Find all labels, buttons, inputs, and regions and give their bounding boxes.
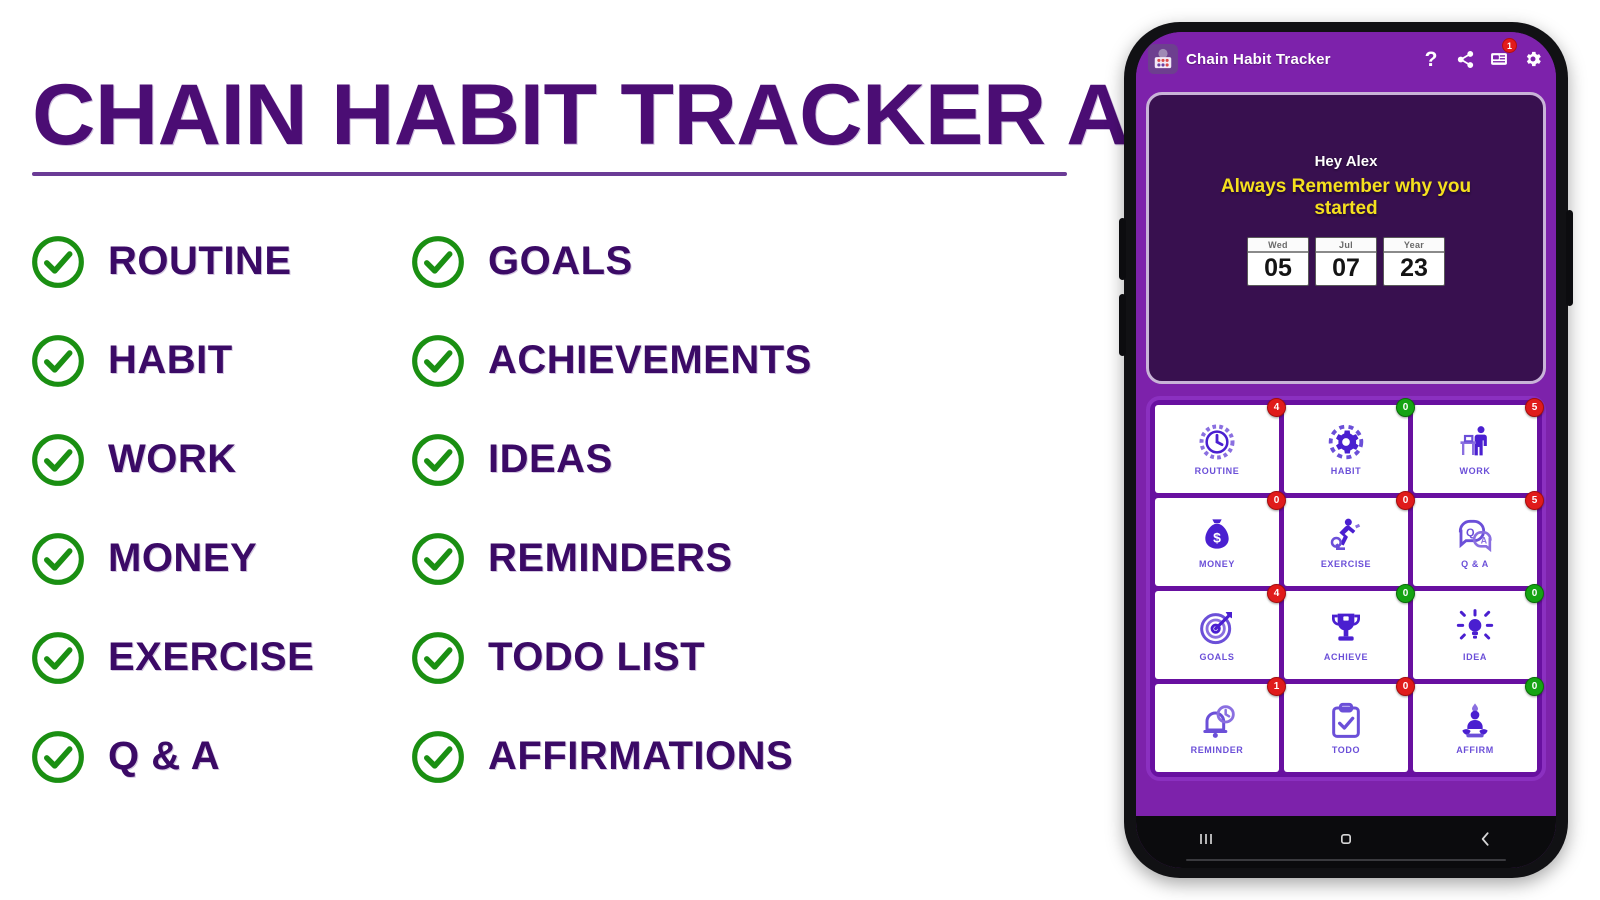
target-goals-icon — [1197, 608, 1237, 648]
feature-label: IDEAS — [488, 437, 613, 482]
feature-label: GOALS — [488, 239, 633, 284]
svg-text:A: A — [1481, 535, 1488, 545]
grid-tile-label: ROUTINE — [1195, 466, 1240, 476]
grid-tile-badge: 0 — [1525, 677, 1544, 696]
date-box: Jul07 — [1315, 237, 1377, 286]
grid-tile-badge: 1 — [1267, 677, 1286, 696]
grid-tile-badge: 0 — [1396, 677, 1415, 696]
left-panel: CHAIN HABIT TRACKER APP ROUTINEGOALSHABI… — [0, 0, 1110, 900]
feature-label: Q & A — [108, 734, 220, 779]
help-icon[interactable]: ? — [1418, 46, 1444, 72]
share-icon[interactable] — [1452, 46, 1478, 72]
check-circle-icon — [30, 432, 86, 488]
grid-tile-work[interactable]: WORK5 — [1413, 405, 1537, 493]
grid-tile-badge: 4 — [1267, 584, 1286, 603]
feature-item-goals: GOALS — [410, 212, 1090, 311]
grid-tile-label: MONEY — [1199, 559, 1235, 569]
check-circle-icon — [30, 630, 86, 686]
clipboard-todo-icon — [1326, 701, 1366, 741]
grid-tile-label: Q & A — [1461, 559, 1489, 569]
title-underline — [32, 172, 1067, 176]
app-bar: Chain Habit Tracker ? — [1136, 32, 1556, 86]
check-circle-icon — [30, 531, 86, 587]
desk-work-icon — [1455, 422, 1495, 462]
grid-tile-label: GOALS — [1199, 652, 1234, 662]
date-label: Year — [1384, 238, 1444, 253]
grid-tile-achieve[interactable]: ACHIEVE0 — [1284, 591, 1408, 679]
date-value: 23 — [1384, 253, 1444, 285]
feature-label: WORK — [108, 437, 237, 482]
feature-grid: ROUTINE4HABIT0WORK5$MONEY0EXERCISE0QAQ &… — [1155, 405, 1537, 772]
grid-tile-todo[interactable]: TODO0 — [1284, 684, 1408, 772]
check-circle-icon — [410, 630, 466, 686]
power-button[interactable] — [1566, 210, 1573, 306]
volume-down-button[interactable] — [1119, 294, 1126, 356]
grid-tile-habit[interactable]: HABIT0 — [1284, 405, 1408, 493]
question-chat-icon: QA — [1455, 515, 1495, 555]
grid-tile-money[interactable]: $MONEY0 — [1155, 498, 1279, 586]
feature-item-work: WORK — [30, 410, 410, 509]
money-bag-icon: $ — [1197, 515, 1237, 555]
feature-list: ROUTINEGOALSHABITACHIEVEMENTSWORKIDEASMO… — [30, 212, 1090, 806]
feature-item-q-a: Q & A — [30, 707, 410, 806]
grid-tile-reminder[interactable]: REMINDER1 — [1155, 684, 1279, 772]
help-glyph: ? — [1425, 49, 1438, 70]
bell-reminder-icon — [1197, 701, 1237, 741]
feature-label: HABIT — [108, 338, 233, 383]
grid-tile-badge: 0 — [1396, 398, 1415, 417]
grid-tile-label: AFFIRM — [1456, 745, 1494, 755]
feature-label: ROUTINE — [108, 239, 292, 284]
grid-tile-label: WORK — [1460, 466, 1491, 476]
grid-tile-affirm[interactable]: AFFIRM0 — [1413, 684, 1537, 772]
home-icon[interactable] — [1321, 825, 1371, 853]
feature-label: EXERCISE — [108, 635, 314, 680]
check-circle-icon — [410, 333, 466, 389]
title-block: CHAIN HABIT TRACKER APP — [32, 72, 1072, 176]
news-badge: 1 — [1502, 38, 1517, 53]
date-box: Wed05 — [1247, 237, 1309, 286]
feature-item-affirmations: AFFIRMATIONS — [410, 707, 1090, 806]
grid-tile-label: TODO — [1332, 745, 1360, 755]
settings-icon[interactable] — [1520, 46, 1546, 72]
phone-mockup: Chain Habit Tracker ? — [1124, 22, 1568, 878]
feature-item-reminders: REMINDERS — [410, 509, 1090, 608]
feature-item-routine: ROUTINE — [30, 212, 410, 311]
grid-tile-label: HABIT — [1331, 466, 1362, 476]
grid-tile-label: REMINDER — [1191, 745, 1244, 755]
grid-tile-label: IDEA — [1463, 652, 1487, 662]
news-icon[interactable]: 1 — [1486, 46, 1512, 72]
feature-label: TODO LIST — [488, 635, 705, 680]
check-circle-icon — [410, 234, 466, 290]
grid-tile-label: EXERCISE — [1321, 559, 1371, 569]
check-circle-icon — [30, 729, 86, 785]
greeting-name: Hey Alex — [1315, 153, 1378, 170]
gear-habit-icon — [1326, 422, 1366, 462]
date-label: Wed — [1248, 238, 1308, 253]
feature-label: MONEY — [108, 536, 257, 581]
greeting-card: Hey Alex Always Remember why you started… — [1146, 92, 1546, 384]
grid-tile-badge: 0 — [1267, 491, 1286, 510]
page-title: CHAIN HABIT TRACKER APP — [32, 72, 1093, 158]
check-circle-icon — [30, 333, 86, 389]
feature-item-habit: HABIT — [30, 311, 410, 410]
back-icon[interactable] — [1461, 825, 1511, 853]
grid-tile-badge: 4 — [1267, 398, 1286, 417]
date-label: Jul — [1316, 238, 1376, 253]
app-title: Chain Habit Tracker — [1186, 51, 1410, 68]
svg-text:$: $ — [1213, 529, 1221, 545]
date-value: 05 — [1248, 253, 1308, 285]
feature-label: ACHIEVEMENTS — [488, 338, 812, 383]
date-value: 07 — [1316, 253, 1376, 285]
phone-screen: Chain Habit Tracker ? — [1136, 32, 1556, 868]
grid-tile-badge: 0 — [1396, 491, 1415, 510]
feature-item-achievements: ACHIEVEMENTS — [410, 311, 1090, 410]
grid-tile-badge: 5 — [1525, 398, 1544, 417]
feature-item-money: MONEY — [30, 509, 410, 608]
check-circle-icon — [410, 432, 466, 488]
slide-root: CHAIN HABIT TRACKER APP ROUTINEGOALSHABI… — [0, 0, 1600, 900]
feature-grid-panel: ROUTINE4HABIT0WORK5$MONEY0EXERCISE0QAQ &… — [1146, 396, 1546, 781]
trophy-icon — [1326, 608, 1366, 648]
exercise-bike-icon — [1326, 515, 1366, 555]
date-box: Year23 — [1383, 237, 1445, 286]
grid-tile-badge: 0 — [1396, 584, 1415, 603]
grid-tile-badge: 0 — [1525, 584, 1544, 603]
volume-up-button[interactable] — [1119, 218, 1126, 280]
grid-tile-goals[interactable]: GOALS4 — [1155, 591, 1279, 679]
recents-icon[interactable] — [1181, 825, 1231, 853]
feature-item-exercise: EXERCISE — [30, 608, 410, 707]
app-logo-icon — [1148, 44, 1178, 74]
grid-tile-routine[interactable]: ROUTINE4 — [1155, 405, 1279, 493]
grid-tile-label: ACHIEVE — [1324, 652, 1368, 662]
grid-tile-badge: 5 — [1525, 491, 1544, 510]
android-nav-bar — [1136, 816, 1556, 868]
check-circle-icon — [410, 729, 466, 785]
lightbulb-idea-icon — [1455, 608, 1495, 648]
feature-label: REMINDERS — [488, 536, 733, 581]
check-circle-icon — [410, 531, 466, 587]
feature-item-todo-list: TODO LIST — [410, 608, 1090, 707]
grid-tile-idea[interactable]: IDEA0 — [1413, 591, 1537, 679]
greeting-quote: Always Remember why you started — [1196, 176, 1496, 221]
meditation-icon — [1455, 701, 1495, 741]
grid-tile-exercise[interactable]: EXERCISE0 — [1284, 498, 1408, 586]
feature-label: AFFIRMATIONS — [488, 734, 793, 779]
date-display: Wed05Jul07Year23 — [1247, 237, 1445, 286]
clock-routine-icon — [1197, 422, 1237, 462]
feature-item-ideas: IDEAS — [410, 410, 1090, 509]
check-circle-icon — [30, 234, 86, 290]
grid-tile-q-a[interactable]: QAQ & A5 — [1413, 498, 1537, 586]
